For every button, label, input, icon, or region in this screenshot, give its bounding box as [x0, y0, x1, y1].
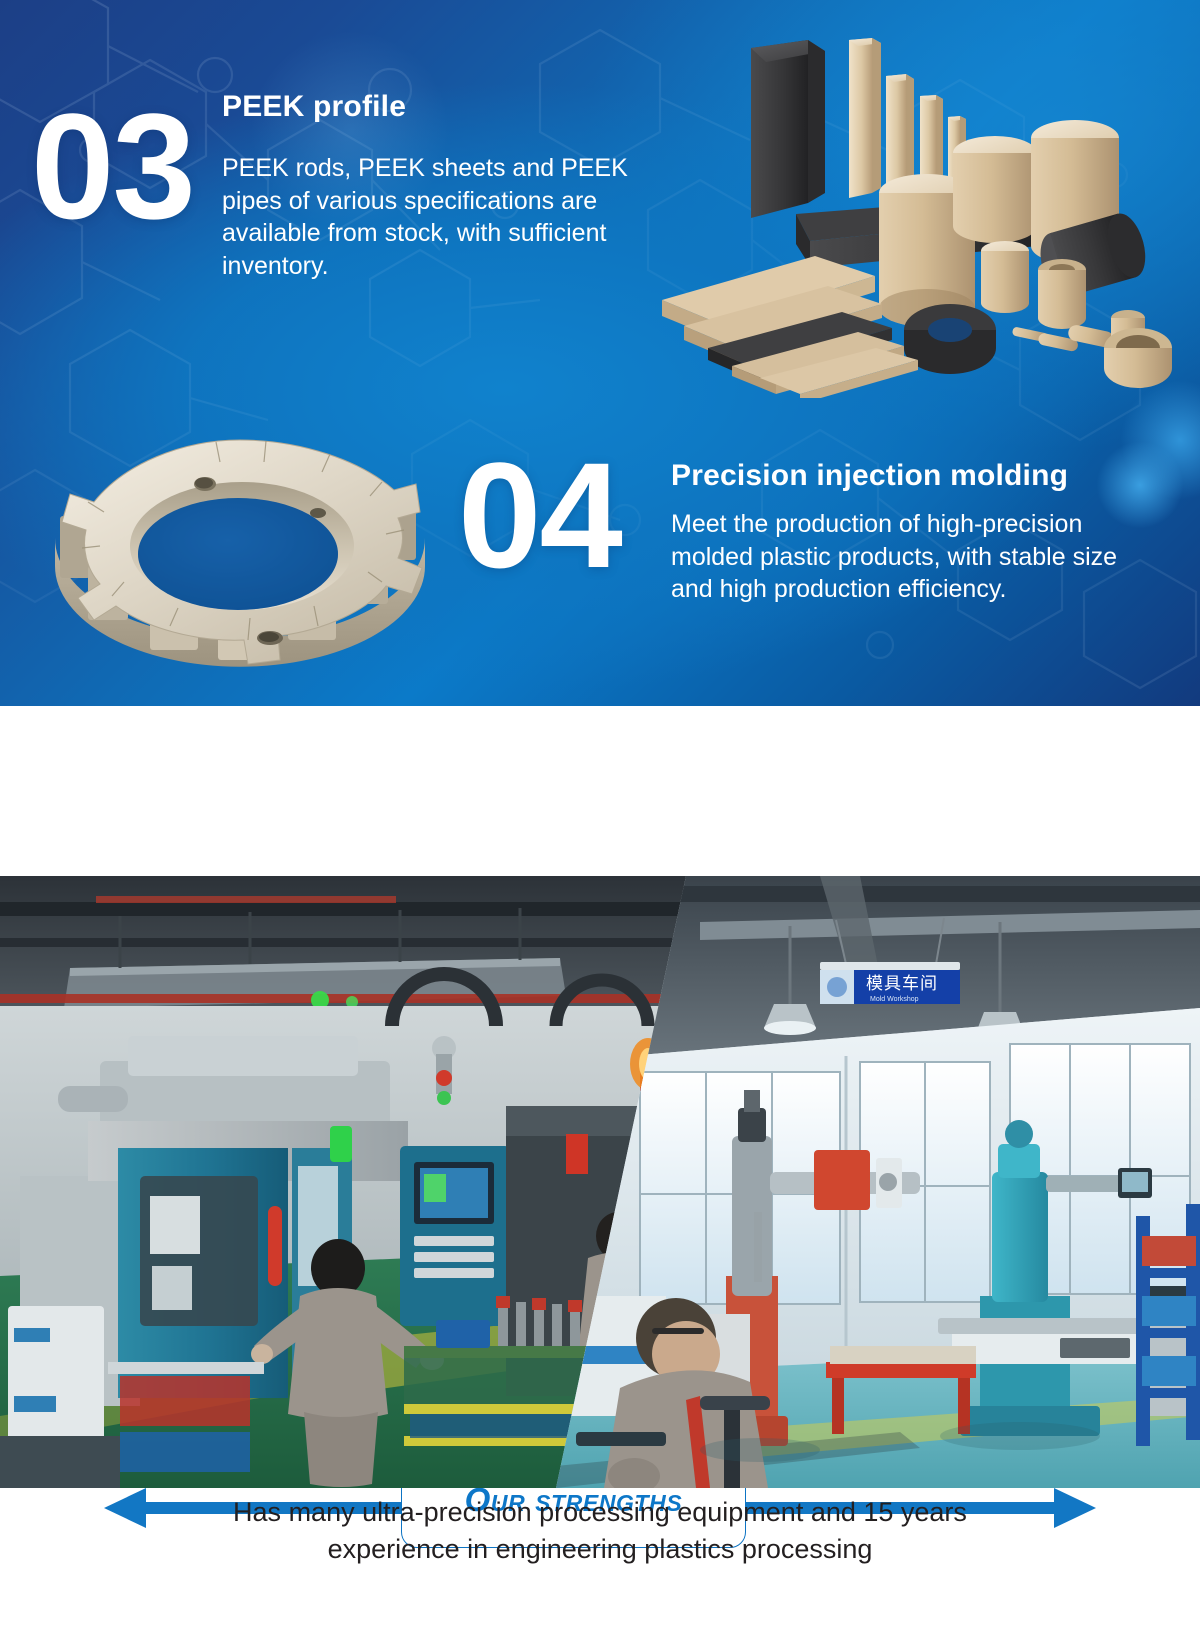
caption-line-2: experience in engineering plastics proce… [0, 1531, 1200, 1568]
hero-banner: 03 PEEK profile PEEK rods, PEEK sheets a… [0, 0, 1200, 706]
workshop-photo-pair: 模具车间 Mold Workshop [0, 876, 1200, 1488]
our-strengths-divider: Our strengths [0, 706, 1200, 876]
block-number-03: 03 [31, 103, 194, 229]
block-body-03: PEEK rods, PEEK sheets and PEEK pipes of… [222, 152, 652, 282]
block-body-04: Meet the production of high-precision mo… [671, 508, 1131, 606]
peek-stock-profiles-photo [620, 18, 1185, 398]
peek-gear-ring-photo [30, 398, 450, 683]
block-number-04: 04 [458, 452, 621, 578]
svg-text:Mold Workshop: Mold Workshop [870, 996, 919, 1003]
svg-text:模具车间: 模具车间 [866, 974, 938, 994]
block-title-04: Precision injection molding [671, 459, 1068, 493]
caption-line-1: Has many ultra-precision processing equi… [0, 1494, 1200, 1531]
block-title-03: PEEK profile [222, 90, 406, 124]
bottom-caption: Has many ultra-precision processing equi… [0, 1494, 1200, 1569]
